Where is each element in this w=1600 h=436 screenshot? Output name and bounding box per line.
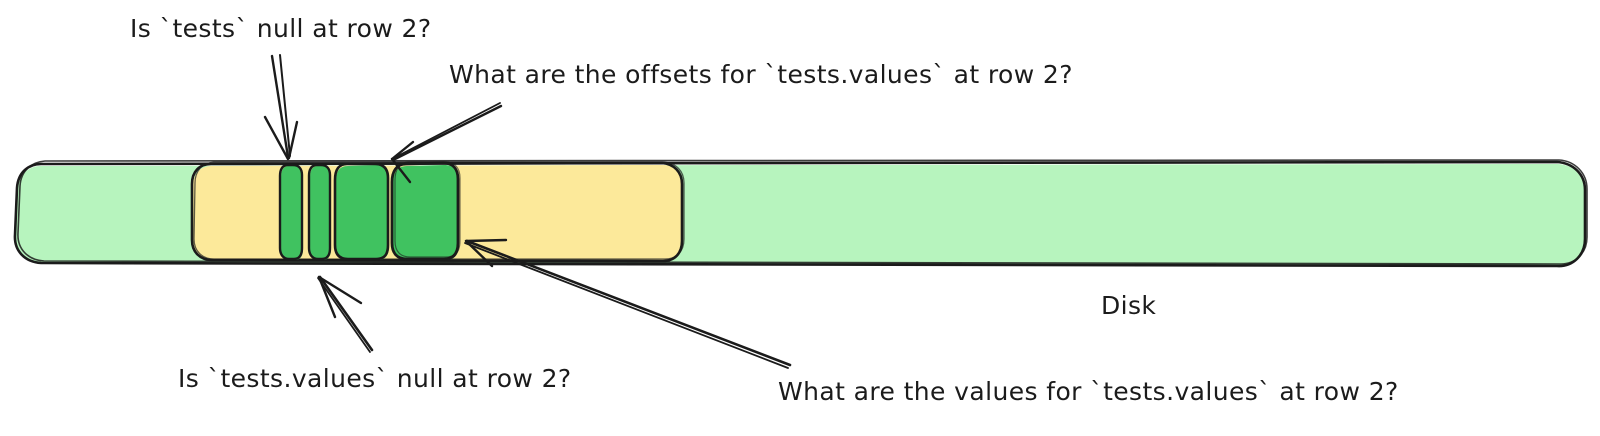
data-block-validity-tests-column — [280, 165, 303, 260]
data-block-offsets-column — [335, 164, 389, 260]
data-block-values-column — [392, 162, 460, 260]
annotation-label-values-what: What are the values for `tests.values` a… — [778, 379, 1399, 404]
disk-label: Disk — [1101, 293, 1156, 318]
validity-values-column-fill — [310, 166, 331, 260]
leader-arrow-values-null — [318, 277, 372, 352]
annotation-label-offsets: What are the offsets for `tests.values` … — [449, 62, 1073, 87]
values-column-fill — [393, 165, 459, 260]
offsets-column-fill — [336, 165, 389, 260]
diagram-canvas: Is `tests` null at row 2? What are the o… — [0, 0, 1600, 436]
leader-arrow-tests-null — [265, 55, 297, 159]
annotation-label-values-null: Is `tests.values` null at row 2? — [178, 366, 572, 391]
data-block-validity-values-column — [309, 165, 331, 260]
validity-tests-column-fill — [281, 166, 303, 260]
annotation-label-tests-null: Is `tests` null at row 2? — [130, 16, 432, 41]
